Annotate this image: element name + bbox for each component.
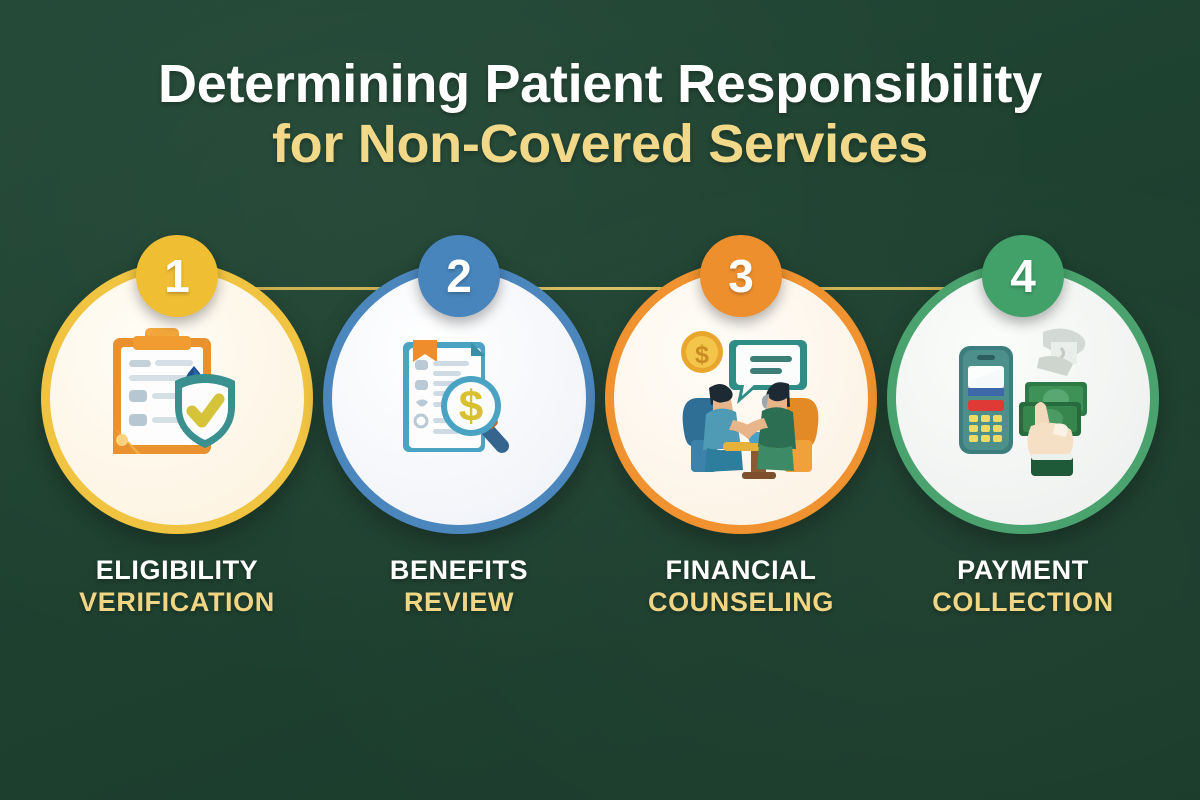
infographic-canvas: Determining Patient Responsibility for N…: [0, 0, 1200, 800]
svg-text:$: $: [695, 341, 709, 369]
step-2-number-badge: 2: [418, 235, 500, 317]
step-3-label: FINANCIAL COUNSELING: [648, 555, 834, 619]
step-item-benefits-review[interactable]: $ 2 BENEFITS REVIEW: [322, 262, 597, 619]
step-2-label-top: BENEFITS: [390, 555, 528, 587]
step-3-label-bottom: COUNSELING: [648, 587, 834, 619]
clipboard-shield-check-icon: [93, 314, 261, 482]
step-3-number: 3: [728, 249, 754, 303]
step-3-label-top: FINANCIAL: [648, 555, 834, 587]
step-4-label-bottom: COLLECTION: [932, 587, 1114, 619]
step-2-label: BENEFITS REVIEW: [390, 555, 528, 619]
step-4-label-top: PAYMENT: [932, 555, 1114, 587]
page-title: Determining Patient Responsibility for N…: [0, 56, 1200, 177]
card-terminal-cash-hand-icon: [939, 314, 1107, 482]
step-3-number-badge: 3: [700, 235, 782, 317]
document-magnifier-dollar-icon: $: [375, 314, 543, 482]
step-item-financial-counseling[interactable]: $: [604, 262, 879, 619]
step-2-number: 2: [446, 249, 472, 303]
steps-row: 1 ELIGIBILITY VERIFICATION: [0, 262, 1200, 619]
step-4-label: PAYMENT COLLECTION: [932, 555, 1114, 619]
step-2-label-bottom: REVIEW: [390, 587, 528, 619]
svg-text:$: $: [459, 382, 483, 431]
step-item-payment-collection[interactable]: 4 PAYMENT COLLECTION: [886, 262, 1161, 619]
step-4-number-badge: 4: [982, 235, 1064, 317]
step-4-number: 4: [1010, 249, 1036, 303]
title-line-secondary: for Non-Covered Services: [0, 113, 1200, 177]
step-item-eligibility-verification[interactable]: 1 ELIGIBILITY VERIFICATION: [40, 262, 315, 619]
step-1-number: 1: [164, 249, 190, 303]
step-1-label-top: ELIGIBILITY: [79, 555, 275, 587]
step-1-label-bottom: VERIFICATION: [79, 587, 275, 619]
step-1-number-badge: 1: [136, 235, 218, 317]
step-1-label: ELIGIBILITY VERIFICATION: [79, 555, 275, 619]
title-line-primary: Determining Patient Responsibility: [0, 56, 1200, 113]
financial-counseling-meeting-icon: $: [657, 314, 825, 482]
